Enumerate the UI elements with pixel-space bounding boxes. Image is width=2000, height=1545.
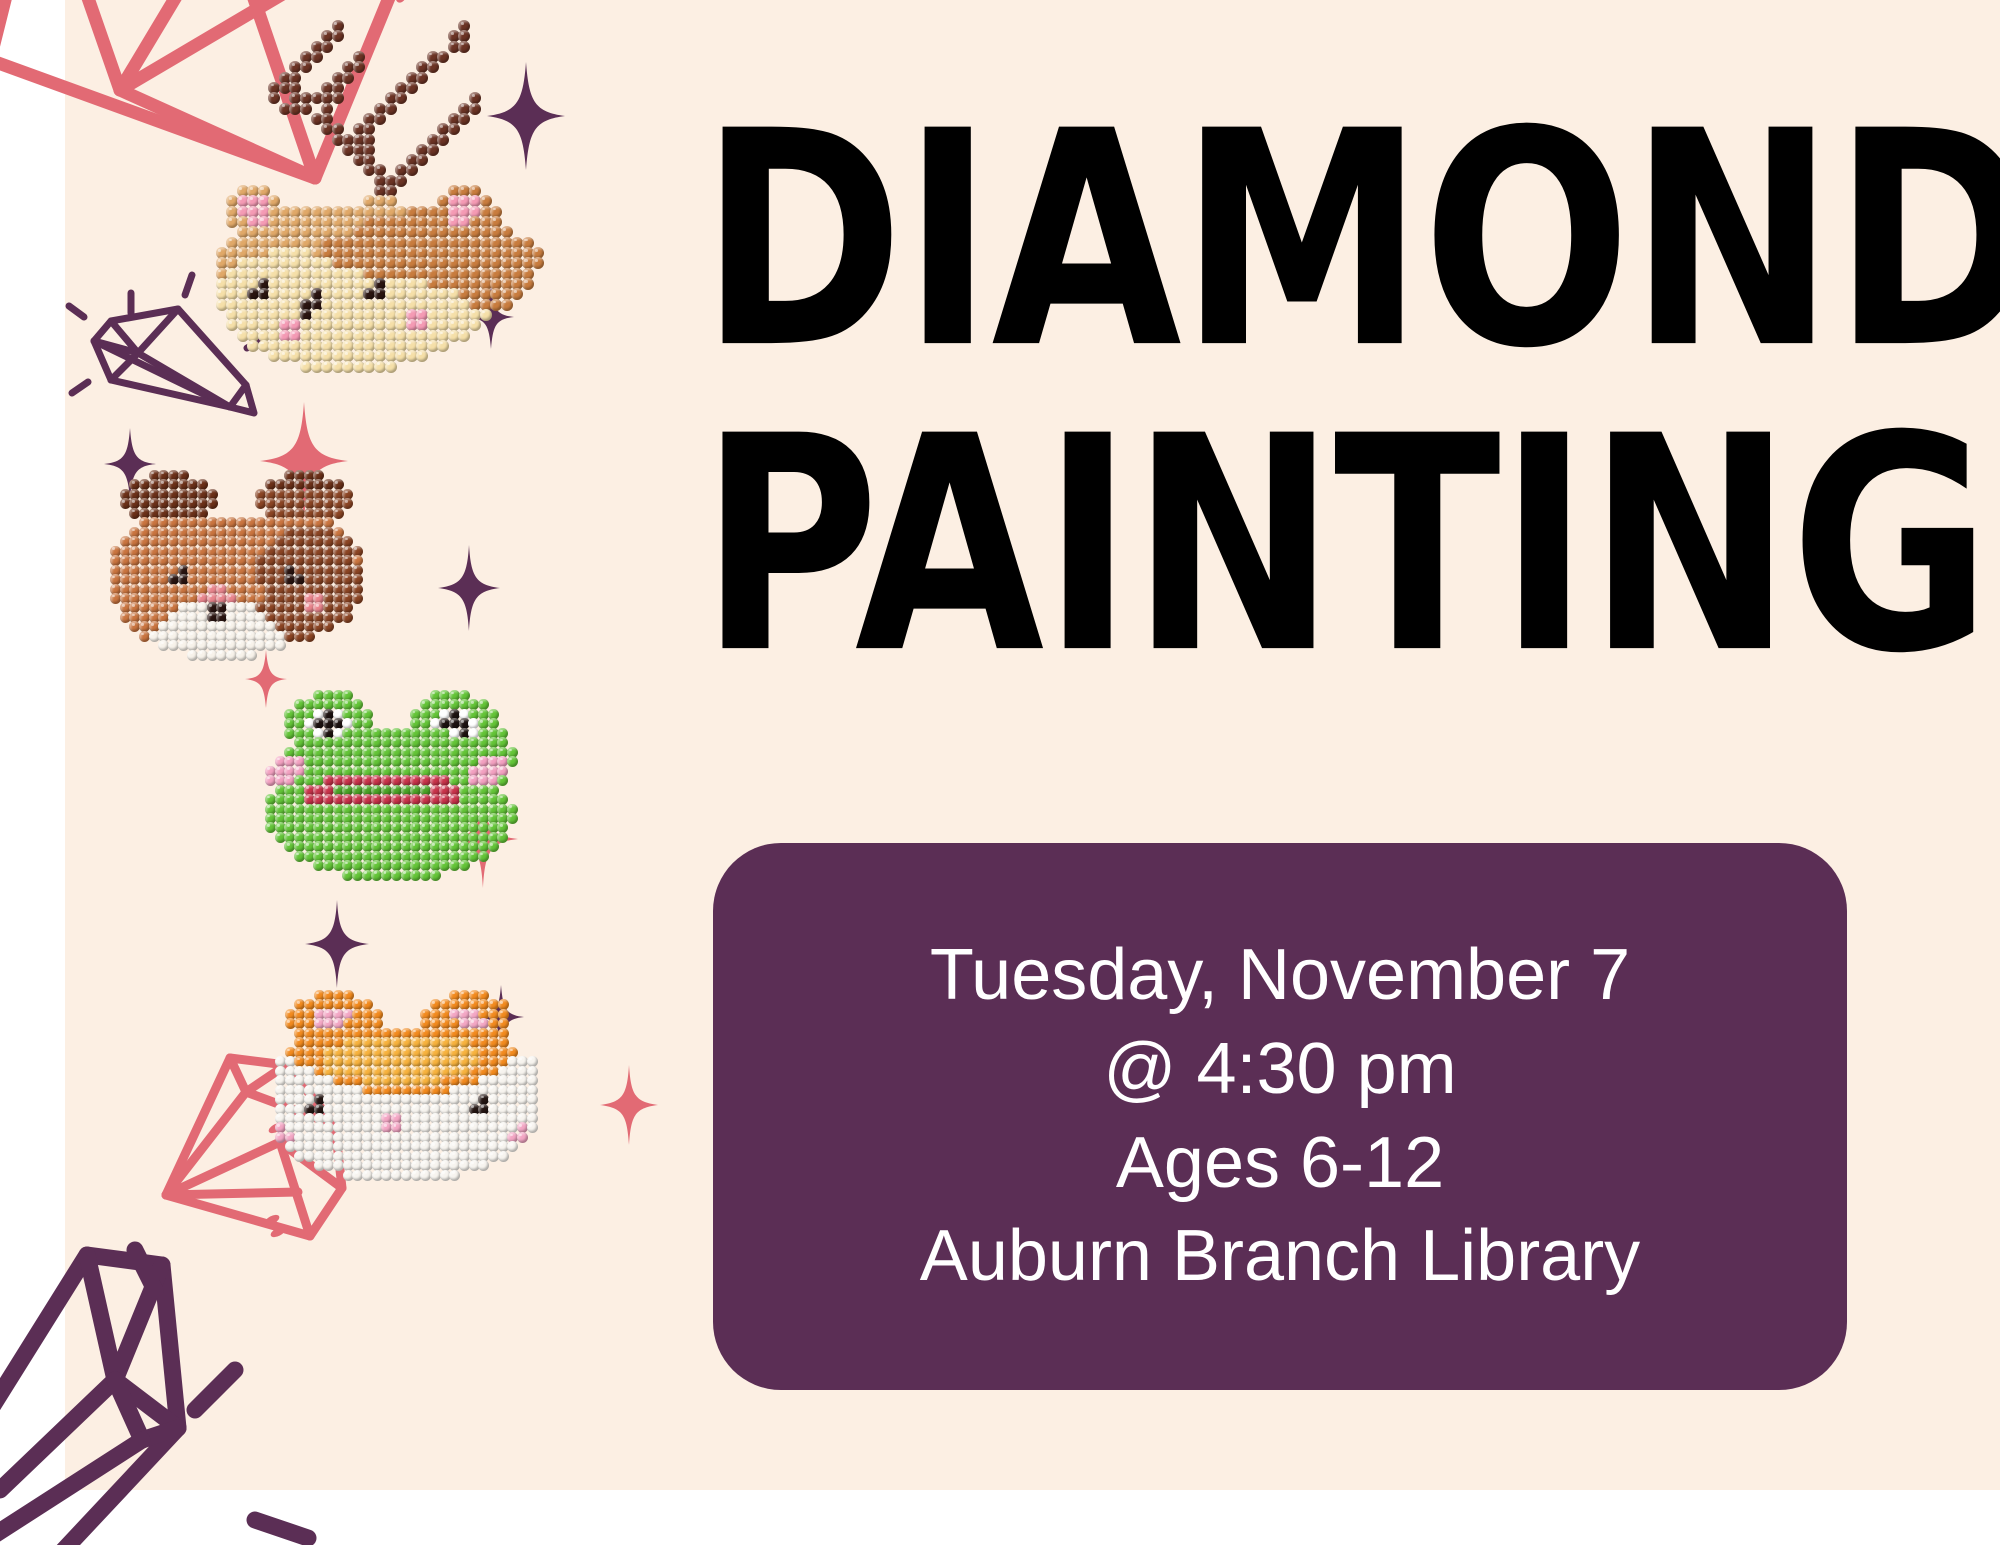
bead — [478, 1160, 489, 1171]
bead — [459, 860, 470, 871]
frog-diamond-painting — [265, 690, 465, 875]
bead — [300, 103, 312, 115]
bead — [395, 92, 407, 104]
bead — [275, 640, 286, 651]
bead — [300, 61, 312, 73]
fox-diamond-painting — [275, 990, 495, 1205]
bead — [321, 41, 333, 53]
bead — [332, 92, 344, 104]
bead — [333, 508, 344, 519]
bead — [522, 278, 534, 290]
event-location: Auburn Branch Library — [920, 1210, 1640, 1304]
bead — [427, 144, 439, 156]
bead — [385, 103, 397, 115]
bead — [304, 631, 315, 642]
bead — [469, 103, 481, 115]
bead — [352, 593, 363, 604]
bead — [374, 113, 386, 125]
bead — [469, 319, 481, 331]
bead — [480, 309, 492, 321]
bead — [246, 650, 257, 661]
bead — [416, 154, 428, 166]
sparkle-purple-mid — [438, 545, 500, 631]
bead — [437, 340, 449, 352]
bead — [406, 82, 418, 94]
bead — [458, 41, 470, 53]
page-title: DIAMOND PAINTING — [700, 105, 1980, 624]
bead — [427, 61, 439, 73]
title-line-painting: PAINTING — [700, 410, 2000, 683]
bead — [406, 164, 418, 176]
bead — [416, 350, 428, 362]
sparkle-purple-lower — [305, 900, 369, 988]
bead — [449, 1170, 460, 1181]
bead — [395, 175, 407, 187]
event-time: @ 4:30 pm — [1103, 1023, 1456, 1117]
bead — [437, 134, 449, 146]
poster-canvas: DIAMOND PAINTING Tuesday, November 7 @ 4… — [0, 0, 2000, 1545]
bead — [488, 841, 499, 852]
bear-diamond-painting — [110, 470, 320, 660]
event-details-card: Tuesday, November 7 @ 4:30 pm Ages 6-12 … — [713, 843, 1847, 1390]
bead — [207, 498, 218, 509]
bead — [385, 361, 397, 373]
bead — [498, 1151, 509, 1162]
bead — [416, 72, 428, 84]
bead — [517, 1132, 528, 1143]
bead — [501, 299, 513, 311]
bead — [353, 61, 365, 73]
bead — [507, 813, 518, 824]
bead — [332, 30, 344, 42]
bead — [437, 51, 449, 63]
event-age-range: Ages 6-12 — [1116, 1117, 1444, 1211]
bead — [448, 123, 460, 135]
bead — [268, 92, 280, 104]
bead — [458, 113, 470, 125]
event-date: Tuesday, November 7 — [930, 929, 1630, 1023]
sparkle-pink-lower-left — [600, 1065, 658, 1145]
bead — [478, 851, 489, 862]
title-line-diamond: DIAMOND — [700, 105, 2000, 378]
bead — [311, 51, 323, 63]
bead — [458, 330, 470, 342]
bead — [342, 72, 354, 84]
deer-diamond-painting — [205, 20, 505, 370]
bead — [430, 870, 441, 881]
